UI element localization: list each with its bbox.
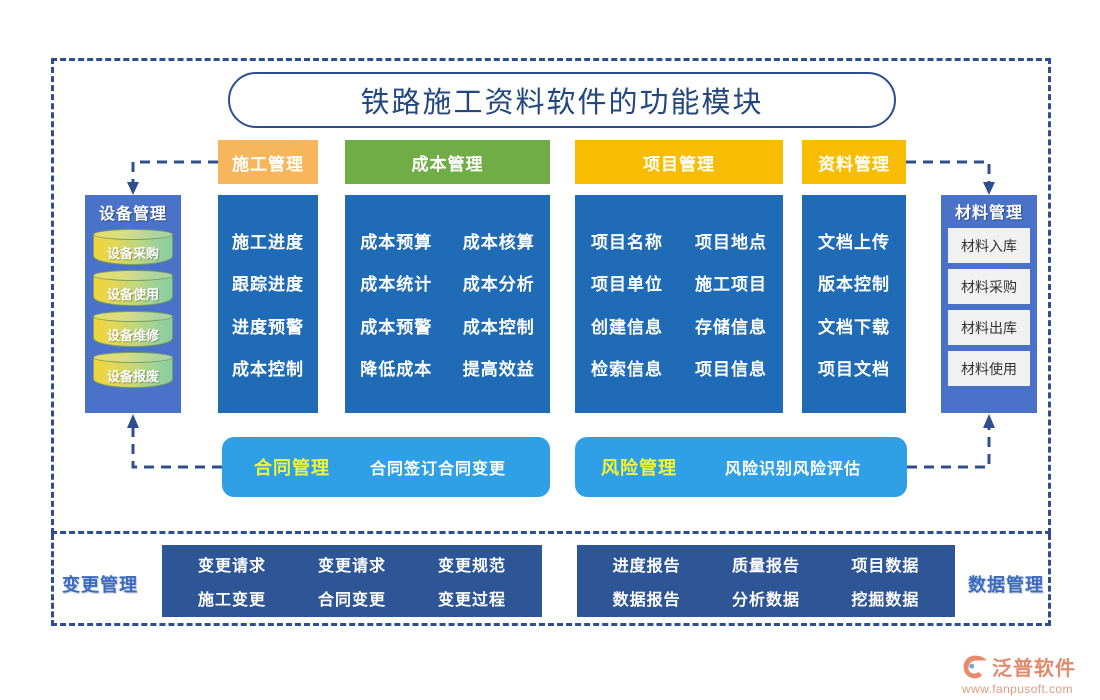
cylinder-equipment-usage[interactable]: 设备使用 — [93, 270, 173, 308]
material-item-usage[interactable]: 材料使用 — [948, 351, 1030, 386]
column-row: 降低成本 提高效益 — [345, 355, 550, 380]
project-item[interactable]: 项目信息 — [679, 355, 783, 380]
document-item[interactable]: 文档上传 — [818, 228, 890, 253]
column-row: 施工进度 — [218, 228, 318, 253]
cost-item[interactable]: 成本控制 — [448, 313, 551, 338]
cost-item[interactable]: 成本统计 — [345, 270, 448, 295]
contract-item-change[interactable]: 合同变更 — [438, 455, 506, 479]
contract-management-title: 合同管理 — [254, 454, 330, 480]
cost-item[interactable]: 成本分析 — [448, 270, 551, 295]
equipment-management-panel: 设备管理 设备采购 设备使用 设备维修 设备报废 — [85, 195, 181, 413]
column-row: 进度预警 — [218, 313, 318, 338]
change-management-panel: 变更请求 变更请求 变更规范 施工变更 合同变更 变更过程 — [162, 545, 542, 617]
project-item[interactable]: 项目名称 — [575, 228, 679, 253]
equipment-management-title: 设备管理 — [99, 200, 167, 224]
cost-item[interactable]: 成本核算 — [448, 228, 551, 253]
risk-item-assessment[interactable]: 风险评估 — [793, 455, 861, 479]
diagram-canvas: 铁路施工资料软件的功能模块 施工管理 成本管理 项目管理 资料管理 设备管理 设… — [0, 0, 1100, 700]
column-row: 跟踪进度 — [218, 270, 318, 295]
column-row: 项目文档 — [802, 355, 906, 380]
cost-item[interactable]: 提高效益 — [448, 355, 551, 380]
construction-item[interactable]: 进度预警 — [232, 313, 304, 338]
column-row: 文档下载 — [802, 313, 906, 338]
data-cell[interactable]: 分析数据 — [706, 586, 825, 610]
cylinder-label: 设备采购 — [93, 240, 173, 264]
document-item[interactable]: 文档下载 — [818, 313, 890, 338]
column-row: 项目单位 施工项目 — [575, 270, 783, 295]
project-item[interactable]: 施工项目 — [679, 270, 783, 295]
project-item[interactable]: 项目单位 — [575, 270, 679, 295]
tab-construction-management[interactable]: 施工管理 — [218, 140, 318, 184]
logo-row: 泛普软件 — [962, 652, 1094, 681]
column-row: 文档上传 — [802, 228, 906, 253]
material-management-panel: 材料管理 材料入库 材料采购 材料出库 材料使用 — [941, 195, 1037, 413]
project-item[interactable]: 创建信息 — [575, 313, 679, 338]
column-row: 版本控制 — [802, 270, 906, 295]
material-management-title: 材料管理 — [955, 199, 1023, 223]
cost-item[interactable]: 成本预算 — [345, 228, 448, 253]
change-cell[interactable]: 变更请求 — [172, 552, 292, 576]
data-cell[interactable]: 数据报告 — [587, 586, 706, 610]
project-item[interactable]: 存储信息 — [679, 313, 783, 338]
column-row: 成本控制 — [218, 355, 318, 380]
change-cell[interactable]: 变更过程 — [412, 586, 532, 610]
tab-document-management[interactable]: 资料管理 — [802, 140, 906, 184]
tab-label: 项目管理 — [643, 150, 715, 175]
logo-url: www.fanpusoft.com — [962, 682, 1094, 696]
material-item-outbound[interactable]: 材料出库 — [948, 310, 1030, 345]
column-row: 检索信息 项目信息 — [575, 355, 783, 380]
change-cell[interactable]: 变更请求 — [292, 552, 412, 576]
tab-label: 施工管理 — [232, 150, 304, 175]
material-item-inbound[interactable]: 材料入库 — [948, 228, 1030, 263]
column-row: 成本预算 成本核算 — [345, 228, 550, 253]
cylinder-label: 设备使用 — [93, 281, 173, 305]
cost-item[interactable]: 成本预警 — [345, 313, 448, 338]
column-project-management: 项目名称 项目地点 项目单位 施工项目 创建信息 存储信息 检索信息 项目信息 — [575, 195, 783, 413]
data-cell[interactable]: 质量报告 — [706, 552, 825, 576]
column-row: 成本预警 成本控制 — [345, 313, 550, 338]
change-management-label: 变更管理 — [62, 571, 138, 597]
contract-item-signing[interactable]: 合同签订 — [370, 455, 438, 479]
change-cell[interactable]: 施工变更 — [172, 586, 292, 610]
column-row: 项目名称 项目地点 — [575, 228, 783, 253]
construction-item[interactable]: 跟踪进度 — [232, 270, 304, 295]
fanpu-logo-icon — [962, 654, 988, 680]
column-document-management: 文档上传 版本控制 文档下载 项目文档 — [802, 195, 906, 413]
cylinder-equipment-purchase[interactable]: 设备采购 — [93, 229, 173, 267]
construction-item[interactable]: 成本控制 — [232, 355, 304, 380]
cylinder-equipment-scrap[interactable]: 设备报废 — [93, 352, 173, 390]
risk-management-title: 风险管理 — [601, 454, 677, 480]
column-construction-management: 施工进度 跟踪进度 进度预警 成本控制 — [218, 195, 318, 413]
project-item[interactable]: 检索信息 — [575, 355, 679, 380]
column-cost-management: 成本预算 成本核算 成本统计 成本分析 成本预警 成本控制 降低成本 提高效益 — [345, 195, 550, 413]
column-row: 成本统计 成本分析 — [345, 270, 550, 295]
data-cell[interactable]: 挖掘数据 — [826, 586, 945, 610]
data-cell[interactable]: 项目数据 — [826, 552, 945, 576]
logo-name: 泛普软件 — [992, 652, 1076, 681]
document-item[interactable]: 版本控制 — [818, 270, 890, 295]
data-management-label: 数据管理 — [968, 571, 1044, 597]
cylinder-top — [93, 229, 173, 240]
document-item[interactable]: 项目文档 — [818, 355, 890, 380]
data-management-panel: 进度报告 质量报告 项目数据 数据报告 分析数据 挖掘数据 — [577, 545, 955, 617]
change-cell[interactable]: 变更规范 — [412, 552, 532, 576]
tab-project-management[interactable]: 项目管理 — [575, 140, 783, 184]
cylinder-top — [93, 352, 173, 363]
risk-item-identification[interactable]: 风险识别 — [725, 455, 793, 479]
cost-item[interactable]: 降低成本 — [345, 355, 448, 380]
tab-cost-management[interactable]: 成本管理 — [345, 140, 550, 184]
cylinder-top — [93, 270, 173, 281]
material-item-purchase[interactable]: 材料采购 — [948, 269, 1030, 304]
company-logo: 泛普软件 www.fanpusoft.com — [962, 652, 1094, 696]
cylinder-top — [93, 311, 173, 322]
contract-management-bar: 合同管理 合同签订 合同变更 — [222, 437, 550, 497]
construction-item[interactable]: 施工进度 — [232, 228, 304, 253]
page-title: 铁路施工资料软件的功能模块 — [360, 79, 763, 121]
data-cell[interactable]: 进度报告 — [587, 552, 706, 576]
cylinder-label: 设备维修 — [93, 322, 173, 346]
change-cell[interactable]: 合同变更 — [292, 586, 412, 610]
risk-management-bar: 风险管理 风险识别 风险评估 — [575, 437, 907, 497]
diagram-title-box: 铁路施工资料软件的功能模块 — [228, 72, 896, 128]
column-row: 创建信息 存储信息 — [575, 313, 783, 338]
cylinder-label: 设备报废 — [93, 363, 173, 387]
tab-label: 资料管理 — [818, 150, 890, 175]
tab-label: 成本管理 — [412, 150, 484, 175]
project-item[interactable]: 项目地点 — [679, 228, 783, 253]
cylinder-equipment-repair[interactable]: 设备维修 — [93, 311, 173, 349]
